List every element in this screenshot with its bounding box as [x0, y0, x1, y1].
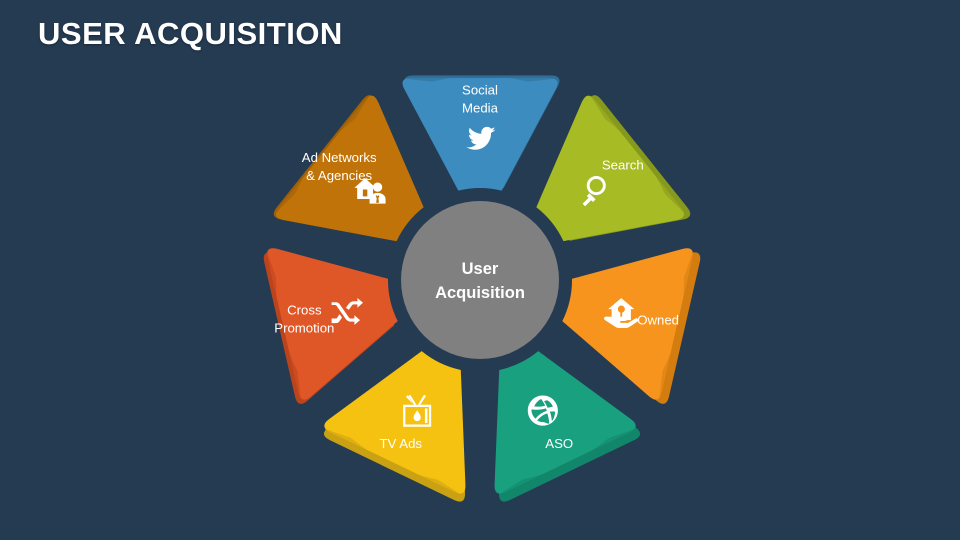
petal-face: [324, 351, 465, 493]
petal-social-media[interactable]: SocialMedia: [402, 75, 559, 190]
slide-canvas: USER ACQUISITION SocialMediaSearchOwnedA…: [0, 0, 960, 540]
center-circle: [401, 201, 559, 359]
diagram-svg: SocialMediaSearchOwnedASOTV AdsCrossProm…: [215, 28, 745, 528]
petal-label-line1: Social: [462, 82, 498, 97]
petal-label-line1: ASO: [545, 436, 573, 451]
petal-label-line2: & Agencies: [306, 168, 372, 183]
petal-tv-ads[interactable]: TV Ads: [324, 351, 466, 501]
center-node[interactable]: User Acquisition: [401, 201, 559, 359]
petal-cross-promotion[interactable]: CrossPromotion: [264, 248, 398, 404]
center-label-line2: Acquisition: [435, 284, 525, 302]
radial-petal-diagram: SocialMediaSearchOwnedASOTV AdsCrossProm…: [215, 28, 745, 528]
petal-label-line2: Promotion: [274, 321, 334, 336]
center-label-line1: User: [462, 260, 499, 278]
petal-ad-networks[interactable]: Ad Networks& Agencies: [274, 95, 424, 241]
petal-label-line1: Ad Networks: [302, 150, 377, 165]
petal-label-line1: Owned: [637, 312, 679, 327]
petal-label-line1: Cross: [287, 303, 322, 318]
petal-label-line2: Media: [462, 100, 499, 115]
petal-owned[interactable]: Owned: [562, 248, 700, 404]
petal-aso[interactable]: ASO: [495, 351, 641, 501]
petal-search[interactable]: Search: [536, 95, 690, 241]
petal-label-line1: Search: [602, 157, 644, 172]
petal-label-line1: TV Ads: [380, 436, 423, 451]
